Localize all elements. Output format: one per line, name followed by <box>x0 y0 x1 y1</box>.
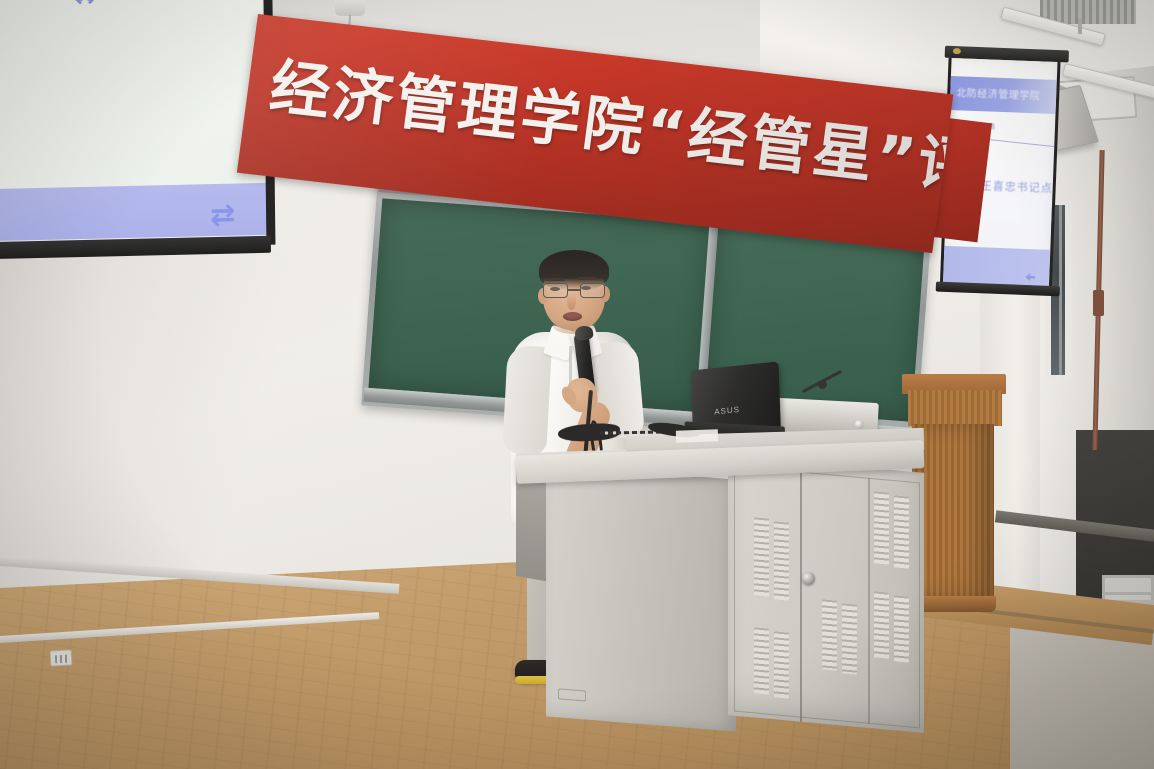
podium-door-seam <box>800 472 802 722</box>
lectern-slat-band <box>908 390 1002 426</box>
slide-header-text: 北防经济管理学院 <box>956 84 1041 102</box>
eyebrow-left <box>546 278 565 281</box>
glasses-bridge <box>568 289 580 291</box>
podium-lock-icon[interactable] <box>802 572 815 585</box>
slide-header-band: 北防经济管理学院 <box>950 76 1057 114</box>
podium-vent <box>774 631 789 698</box>
metal-lectern-cabinet <box>516 432 924 728</box>
podium-vent <box>754 517 769 596</box>
paper-sheet <box>676 429 718 442</box>
podium-side-panel <box>546 464 736 731</box>
lectern-body <box>912 424 994 600</box>
wall-fixture <box>335 0 365 16</box>
podium-vent <box>874 491 889 564</box>
left-slide-logo-icon: ⇄ <box>210 201 251 230</box>
podium-vent <box>822 599 837 670</box>
eyebrow-right <box>577 277 596 280</box>
podium-vent <box>842 603 857 674</box>
podium-vent <box>754 627 769 694</box>
slide-divider-rule <box>987 139 1061 148</box>
power-outlet <box>50 649 73 666</box>
glasses-lens-left <box>543 283 568 298</box>
glasses-lens-right <box>580 283 605 298</box>
cable-connector <box>818 380 827 389</box>
podium-vent <box>774 521 789 600</box>
speaker-nose <box>567 294 576 310</box>
left-projection-screen: ↭ ⇄ <box>0 0 273 255</box>
ceiling-mount-stub <box>1078 18 1082 34</box>
left-slide-top-glyph: ↭ <box>73 0 134 15</box>
podium-door-seam <box>868 478 870 724</box>
podium-vent <box>894 595 909 662</box>
podium-vent <box>894 495 909 568</box>
podium-vent <box>874 591 889 658</box>
lecture-hall-photo: ↭ ⇄ 北防经济管理学院 经管星评选 二、王喜忠书记点评 经济管理学院“经管星”… <box>0 0 1154 769</box>
pipe-joint <box>1093 290 1104 316</box>
